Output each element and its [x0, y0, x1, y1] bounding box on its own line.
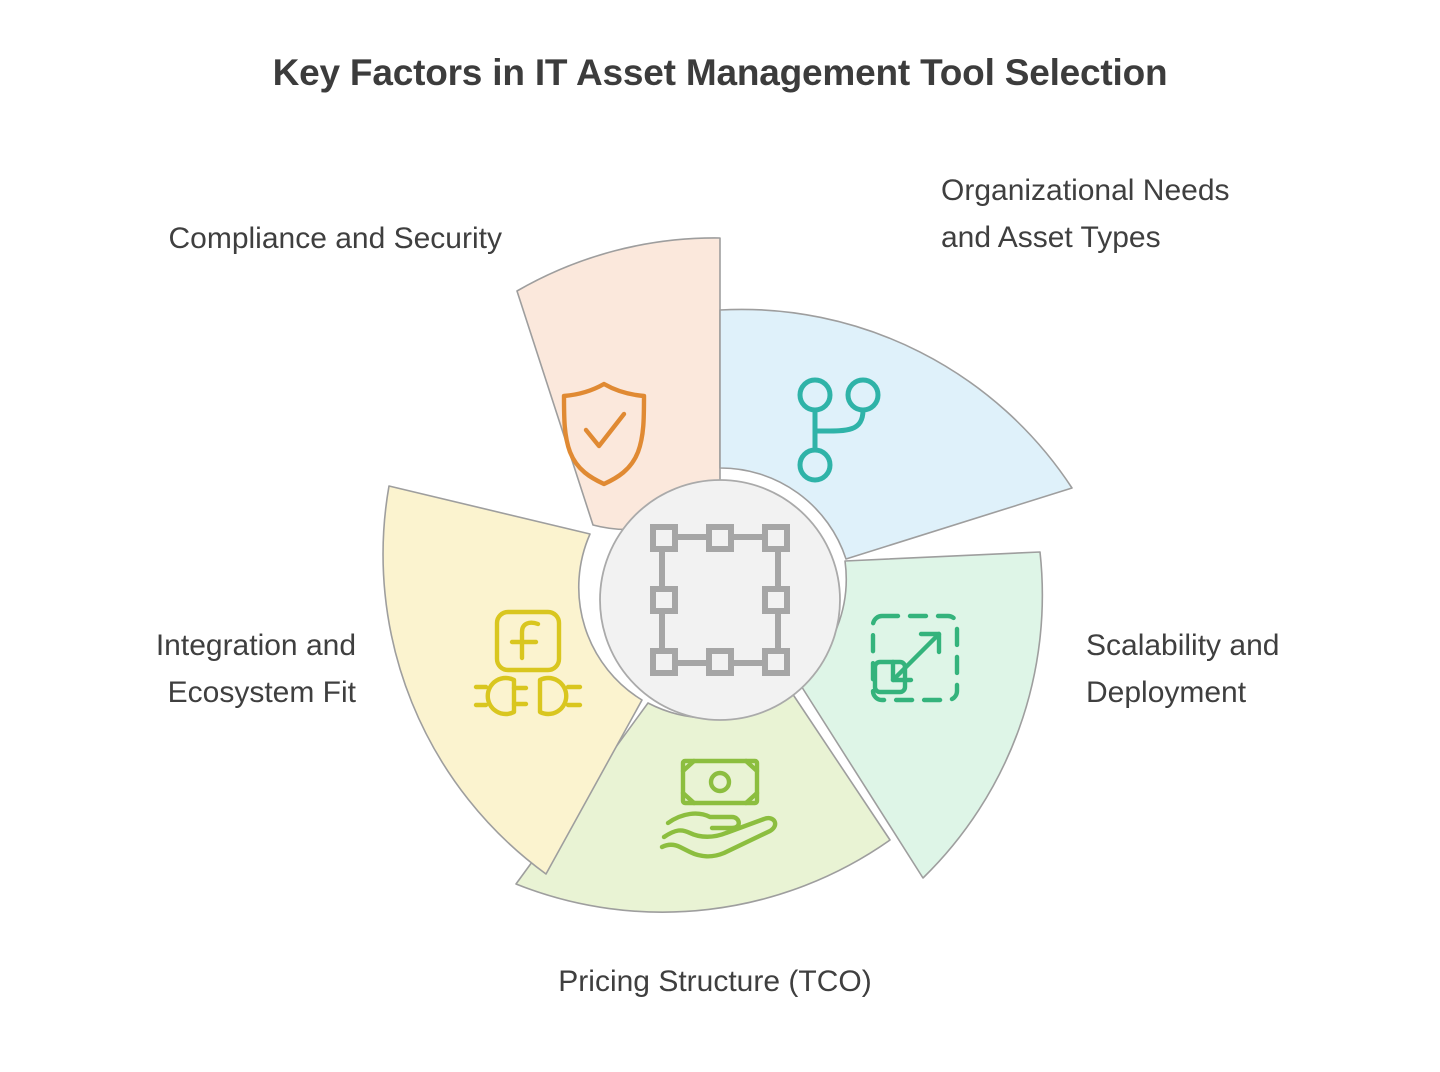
segment-label-scalability-deployment: Scalability and Deployment [1086, 622, 1386, 717]
center-hub-circle[interactable] [600, 480, 840, 720]
wheel-svg [0, 0, 1440, 1072]
segment-label-integration-ecosystem: Integration and Ecosystem Fit [60, 622, 356, 717]
petal-wheel-diagram: Organizational Needs and Asset Types Com… [0, 0, 1440, 1072]
center-hub[interactable] [600, 480, 840, 720]
segment-label-organizational-needs: Organizational Needs and Asset Types [941, 167, 1271, 262]
segment-label-pricing-structure: Pricing Structure (TCO) [515, 958, 915, 1005]
segment-label-compliance-security: Compliance and Security [150, 215, 502, 262]
